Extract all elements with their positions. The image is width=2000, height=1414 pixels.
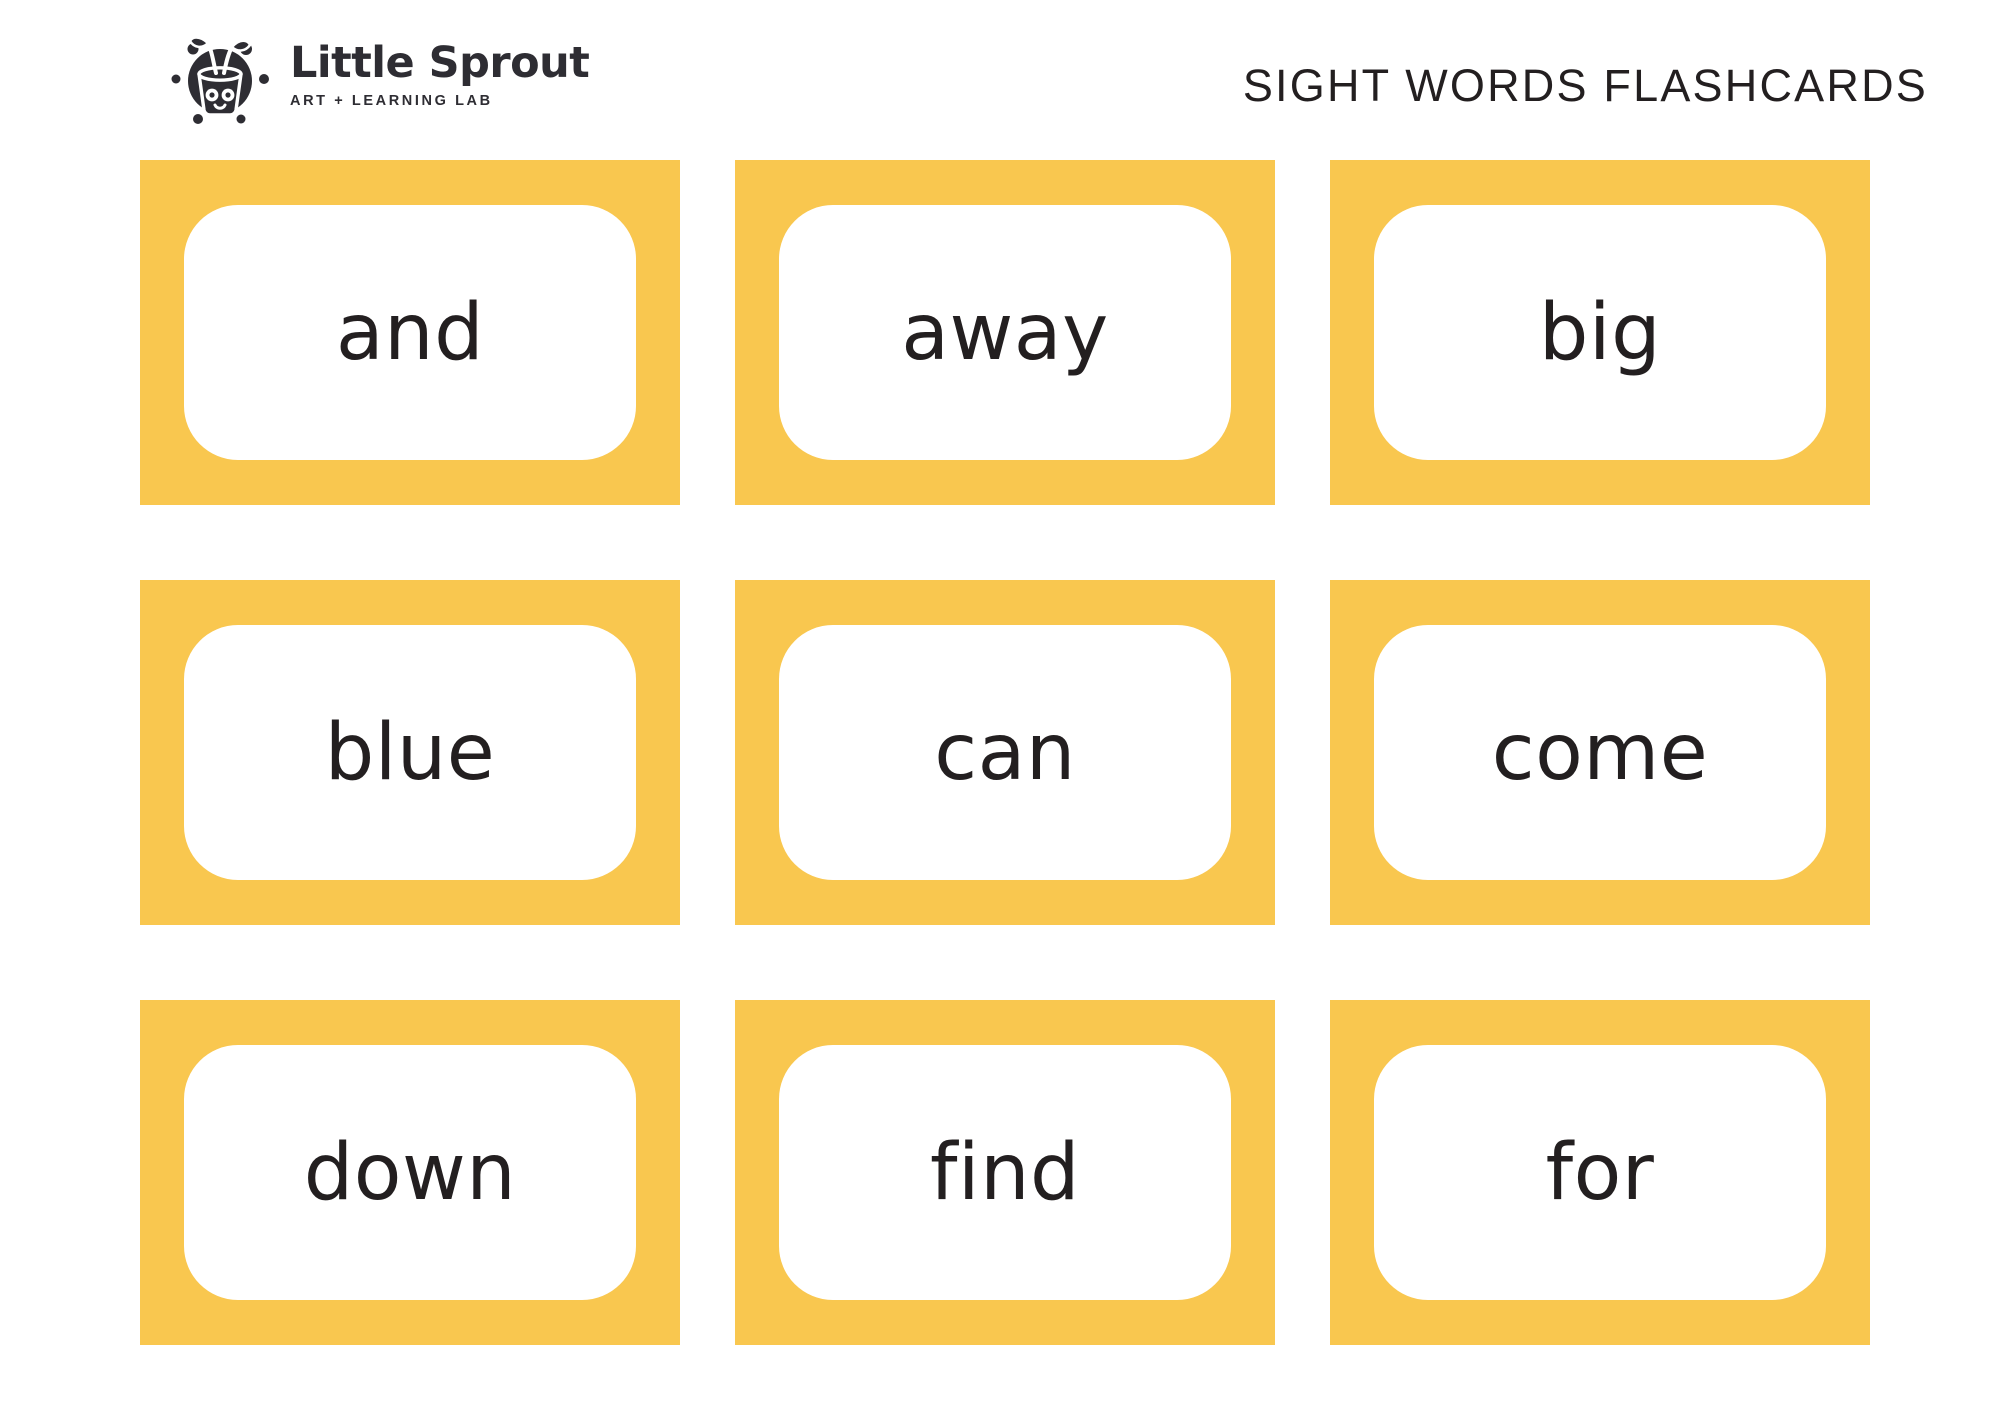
flashcard-word: come	[1492, 714, 1709, 792]
flashcard-inner-panel: find	[779, 1045, 1231, 1300]
page-header: Little Sprout ART + LEARNING LAB SIGHT W…	[0, 0, 2000, 150]
flashcard-worksheet-page: Little Sprout ART + LEARNING LAB SIGHT W…	[0, 0, 2000, 1414]
sprout-in-pot-icon	[168, 23, 272, 127]
flashcard-word: down	[304, 1134, 516, 1212]
flashcard-inner-panel: away	[779, 205, 1231, 460]
flashcard: away	[735, 160, 1275, 505]
flashcard-inner-panel: can	[779, 625, 1231, 880]
flashcard: can	[735, 580, 1275, 925]
flashcard-inner-panel: big	[1374, 205, 1826, 460]
flashcard: big	[1330, 160, 1870, 505]
page-title: SIGHT WORDS FLASHCARDS	[1243, 60, 1928, 112]
flashcard-word: blue	[325, 714, 496, 792]
flashcard: find	[735, 1000, 1275, 1345]
flashcard-word: find	[930, 1134, 1080, 1212]
flashcard-word: can	[934, 714, 1076, 792]
brand-name: Little Sprout	[290, 41, 589, 86]
flashcard-word: and	[336, 294, 484, 372]
flashcard: for	[1330, 1000, 1870, 1345]
flashcard-inner-panel: come	[1374, 625, 1826, 880]
flashcard-word: for	[1546, 1134, 1655, 1212]
brand-logo: Little Sprout ART + LEARNING LAB	[168, 23, 589, 127]
brand-text-block: Little Sprout ART + LEARNING LAB	[290, 39, 589, 111]
brand-tagline: ART + LEARNING LAB	[290, 93, 589, 110]
flashcard-inner-panel: for	[1374, 1045, 1826, 1300]
flashcard-inner-panel: blue	[184, 625, 636, 880]
flashcard: down	[140, 1000, 680, 1345]
flashcard-inner-panel: and	[184, 205, 636, 460]
flashcard-word: big	[1539, 294, 1661, 372]
flashcard: come	[1330, 580, 1870, 925]
flashcard: blue	[140, 580, 680, 925]
flashcard-grid: and away big blue can come	[140, 160, 1870, 1345]
flashcard: and	[140, 160, 680, 505]
flashcard-inner-panel: down	[184, 1045, 636, 1300]
flashcard-word: away	[901, 294, 1109, 372]
